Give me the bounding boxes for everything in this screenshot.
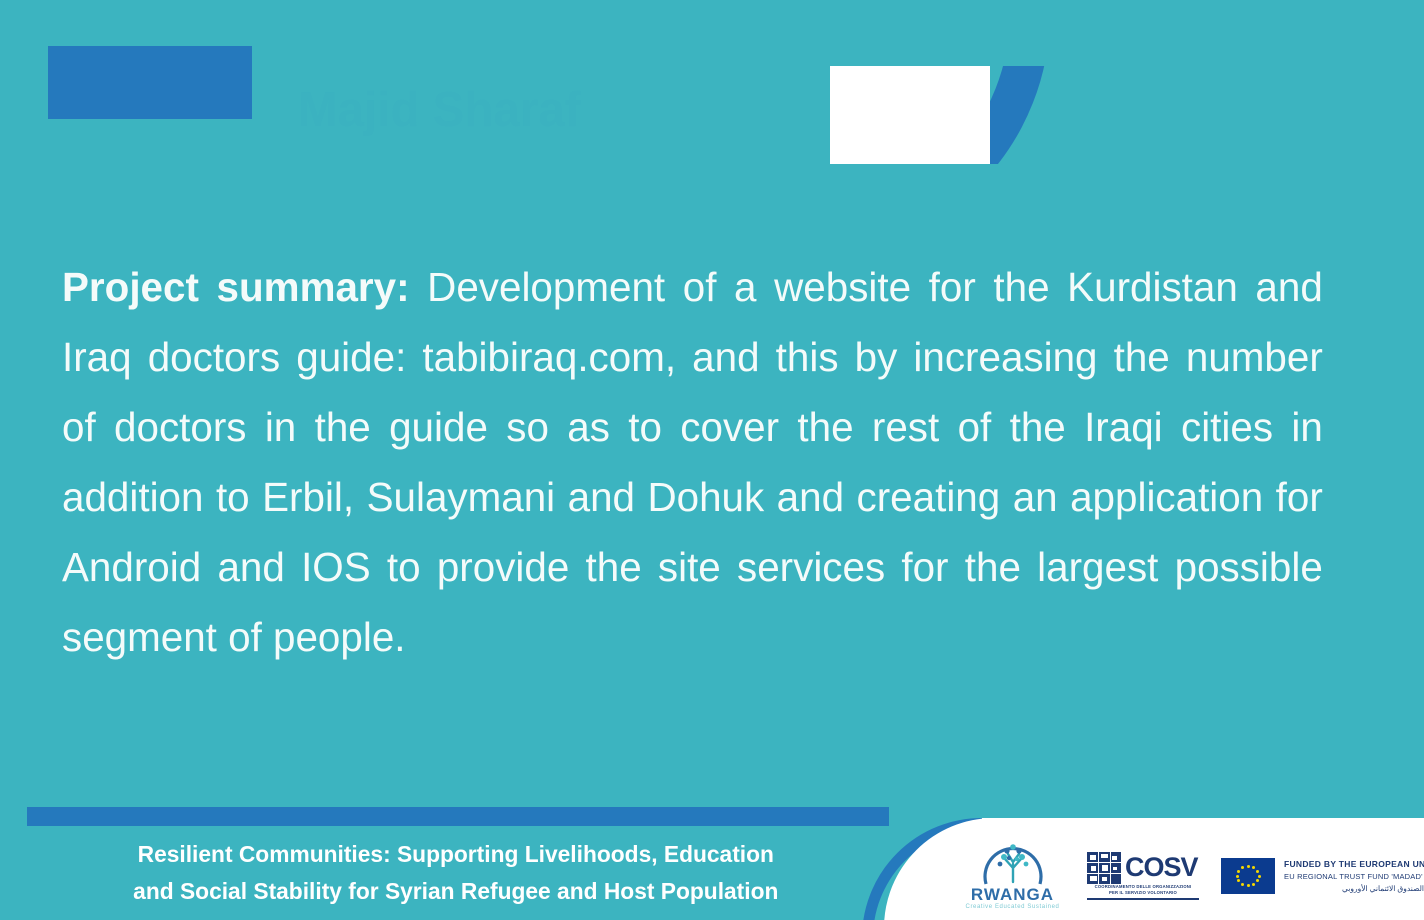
- header-band-top-mask: [560, 0, 1120, 66]
- presentation-slide: Majid Sharaf Project summary: Developmen…: [0, 0, 1424, 920]
- footer-project-title-line1: Resilient Communities: Supporting Liveli…: [40, 836, 872, 873]
- eu-flag-icon: [1221, 858, 1275, 894]
- footer-project-title: Resilient Communities: Supporting Liveli…: [40, 836, 872, 910]
- project-summary-text: Development of a website for the Kurdist…: [62, 264, 1323, 660]
- footer-project-title-line2: and Social Stability for Syrian Refugee …: [40, 873, 872, 910]
- eu-funding-text: FUNDED BY THE EUROPEAN UNION EU REGIONAL…: [1284, 859, 1424, 894]
- project-summary-label: Project summary:: [62, 264, 410, 310]
- cosv-logo-top: COSV: [1087, 852, 1198, 884]
- footer-logo-strip: RWANGA Creative Educated Sustained: [960, 833, 1410, 919]
- eu-funding-line1: FUNDED BY THE EUROPEAN UNION: [1284, 859, 1424, 869]
- eu-funding-line2: EU REGIONAL TRUST FUND 'MADAD': [1284, 872, 1424, 881]
- footer-accent-bar: [27, 807, 889, 826]
- project-summary-block: Project summary: Development of a websit…: [62, 252, 1342, 672]
- page-title: Majid Sharaf: [298, 80, 581, 140]
- header-logo-placeholder: [48, 46, 252, 119]
- cosv-wordmark: COSV: [1125, 852, 1198, 884]
- cosv-logo: COSV COORDINAMENTO DELLE ORGANIZZAZIONI …: [1087, 852, 1199, 900]
- rwanga-logo: RWANGA Creative Educated Sustained: [960, 834, 1065, 918]
- rwanga-tree-icon: [978, 834, 1048, 890]
- cosv-subtitle-line2: PER IL SERVIZIO VOLONTARIO: [1087, 890, 1199, 896]
- cosv-globe-icon: [1087, 852, 1121, 884]
- eu-funding-logo: FUNDED BY THE EUROPEAN UNION EU REGIONAL…: [1221, 858, 1399, 894]
- rwanga-tagline: Creative Educated Sustained: [966, 903, 1060, 911]
- eu-funding-line3-arabic: مدد : الصندوق الائتماني الأوروبي: [1284, 884, 1424, 894]
- rwanga-tree-svg: [978, 834, 1048, 890]
- cosv-divider: [1087, 898, 1199, 900]
- project-summary-paragraph: Project summary: Development of a websit…: [62, 252, 1323, 672]
